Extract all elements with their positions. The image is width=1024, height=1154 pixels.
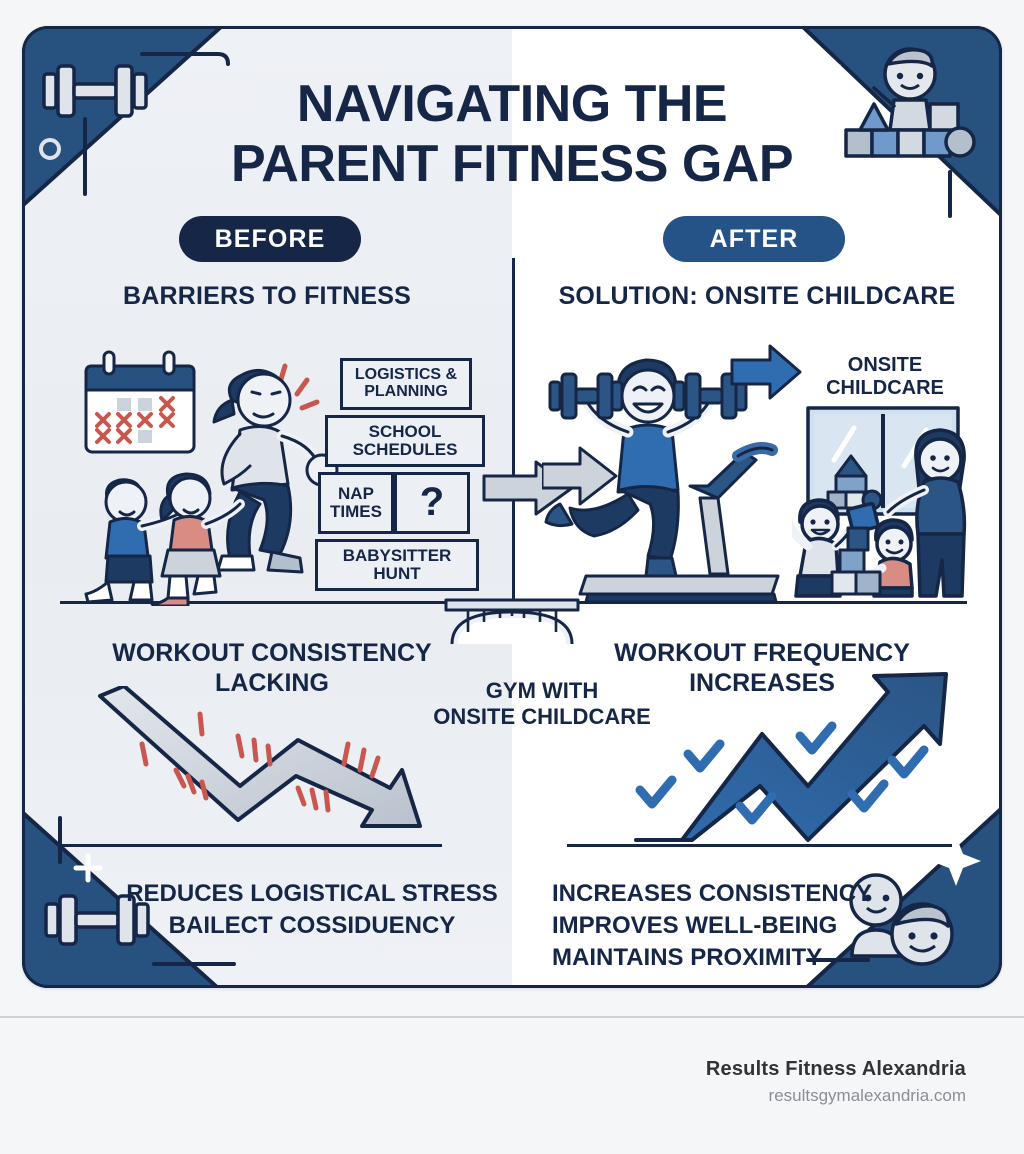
before-outcome-item: REDUCES LOGISTICAL STRESS [102, 878, 522, 910]
after-outcome-item: INCREASES CONSISTENCY [552, 878, 972, 910]
declining-trend-graphic [90, 686, 430, 846]
title-line-2: PARENT FITNESS GAP [22, 134, 1002, 194]
calendar-missed-days-icon [86, 352, 194, 452]
after-outcome-item: IMPROVES WELL-BEING [552, 910, 972, 942]
childcare-room-illustration [792, 404, 982, 604]
page-title: NAVIGATING THE PARENT FITNESS GAP [22, 74, 1002, 195]
barrier-block-question: ? [394, 472, 470, 534]
before-illustration [64, 344, 354, 606]
before-pill: BEFORE [179, 216, 361, 262]
onsite-childcare-callout: ONSITECHILDCARE [790, 354, 980, 400]
footer: Results Fitness Alexandria resultsgymale… [706, 1058, 966, 1106]
before-outcome-item: BAILECT COSSIDUENCY [102, 910, 522, 942]
footer-divider [0, 1016, 1024, 1018]
bridge-label: GYM WITHONSITE CHILDCARE [392, 678, 692, 731]
infographic-card: NAVIGATING THE PARENT FITNESS GAP BEFORE… [22, 26, 1002, 988]
brand-name: Results Fitness Alexandria [706, 1058, 966, 1081]
before-outcomes-list: REDUCES LOGISTICAL STRESS BAILECT COSSID… [102, 878, 522, 942]
brand-url: resultsgymalexandria.com [706, 1086, 966, 1106]
before-heading: BARRIERS TO FITNESS [22, 282, 512, 311]
barrier-block-nap: NAPTIMES [318, 472, 394, 534]
barrier-block-babysitter: BABYSITTERHUNT [315, 539, 479, 591]
after-illustration [542, 344, 802, 606]
infographic-page: NAVIGATING THE PARENT FITNESS GAP BEFORE… [0, 0, 1024, 1154]
arrow-left-gray-icon [542, 448, 616, 504]
down-arrow-icon [100, 686, 420, 826]
after-heading: SOLUTION: ONSITE CHILDCARE [512, 282, 1002, 311]
after-outcomes-list: INCREASES CONSISTENCY IMPROVES WELL-BEIN… [552, 878, 972, 974]
barrier-block-logistics: LOGISTICS &PLANNING [340, 358, 472, 410]
after-outcome-item: MAINTAINS PROXIMITY [552, 942, 972, 974]
barrier-block-school: SCHOOLSCHEDULES [325, 415, 485, 467]
after-pill: AFTER [663, 216, 845, 262]
title-line-1: NAVIGATING THE [297, 75, 727, 133]
